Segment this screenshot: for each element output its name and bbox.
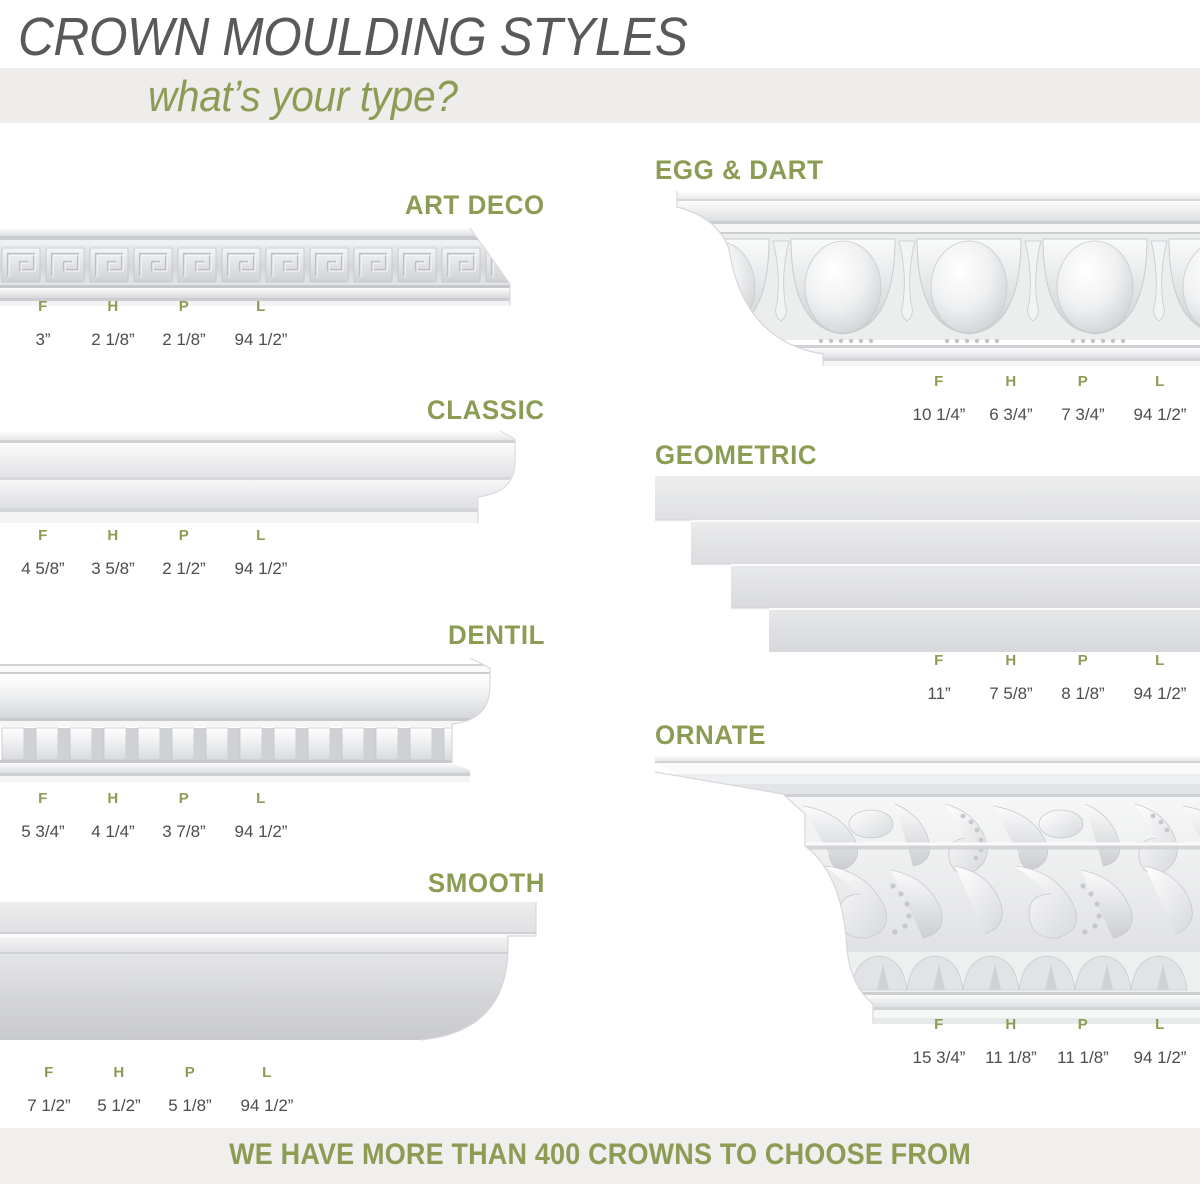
dimensions-art-deco: F 3” H 2 1/8” P 2 1/8” L 94 1/2”: [8, 298, 302, 349]
dim-key-l: L: [1155, 373, 1165, 390]
style-card-art-deco: ART DECO: [0, 190, 545, 360]
style-title-smooth: SMOOTH: [428, 868, 545, 899]
dim-value-f: 15 3/4”: [913, 1048, 966, 1067]
footer-tagline: WE HAVE MORE THAN 400 CROWNS TO CHOOSE F…: [60, 1138, 1140, 1172]
dim-key-f: F: [934, 652, 944, 669]
dim-value-f: 3”: [35, 330, 50, 349]
style-card-geometric: GEOMETRIC: [655, 440, 1200, 710]
dimensions-classic: F 4 5/8” H 3 5/8” P 2 1/2” L 94 1/2”: [8, 527, 302, 578]
dim-value-f: 7 1/2”: [27, 1096, 70, 1115]
dimensions-dentil: F 5 3/4” H 4 1/4” P 3 7/8” L 94 1/2”: [8, 790, 302, 841]
dim-key-l: L: [256, 790, 266, 807]
page-title: CROWN MOULDING STYLES: [18, 8, 687, 66]
moulding-image-geometric: [655, 476, 1200, 656]
dim-key-h: H: [1005, 373, 1016, 390]
style-title-egg-and-dart: EGG & DART: [655, 155, 823, 186]
dim-value-f: 11”: [927, 684, 950, 703]
dim-value-l: 94 1/2”: [241, 1096, 294, 1115]
dim-value-l: 94 1/2”: [1134, 405, 1187, 424]
dim-key-h: H: [113, 1064, 124, 1081]
dim-value-l: 94 1/2”: [235, 559, 288, 578]
dim-value-h: 6 3/4”: [989, 405, 1032, 424]
dim-key-l: L: [256, 298, 266, 315]
dim-value-l: 94 1/2”: [1134, 1048, 1187, 1067]
dimensions-egg-and-dart: F 10 1/4” H 6 3/4” P 7 3/4” L 94 1/2”: [903, 373, 1200, 424]
style-card-dentil: DENTIL: [0, 620, 545, 845]
dim-key-p: P: [179, 527, 190, 544]
dim-value-h: 3 5/8”: [91, 559, 134, 578]
moulding-image-classic: [0, 431, 545, 531]
dimensions-ornate: F 15 3/4” H 11 1/8” P 11 1/8” L 94 1/2”: [903, 1016, 1200, 1067]
dim-value-p: 3 7/8”: [162, 822, 205, 841]
style-card-egg-and-dart: EGG & DART: [655, 155, 1200, 425]
dimensions-geometric: F 11” H 7 5/8” P 8 1/8” L 94 1/2”: [903, 652, 1200, 703]
moulding-image-egg-and-dart: [655, 191, 1200, 381]
dim-value-h: 11 1/8”: [985, 1048, 1037, 1067]
infographic-page: CROWN MOULDING STYLES what’s your type? …: [0, 0, 1200, 1200]
dim-key-f: F: [44, 1064, 54, 1081]
dim-value-f: 10 1/4”: [913, 405, 966, 424]
dim-value-h: 7 5/8”: [989, 684, 1032, 703]
dim-value-l: 94 1/2”: [235, 330, 288, 349]
dim-key-f: F: [934, 1016, 944, 1033]
dim-value-p: 8 1/8”: [1061, 684, 1104, 703]
dim-key-f: F: [38, 527, 48, 544]
dim-key-p: P: [1078, 652, 1089, 669]
dim-value-f: 5 3/4”: [21, 822, 64, 841]
dim-value-p: 11 1/8”: [1057, 1048, 1109, 1067]
dim-key-h: H: [107, 790, 118, 807]
dim-value-h: 2 1/8”: [91, 330, 134, 349]
moulding-image-dentil: [0, 658, 545, 793]
dim-value-l: 94 1/2”: [1134, 684, 1187, 703]
style-card-classic: CLASSIC: [0, 395, 545, 590]
dim-value-h: 5 1/2”: [97, 1096, 140, 1115]
dim-key-f: F: [38, 298, 48, 315]
dim-key-f: F: [38, 790, 48, 807]
dim-key-p: P: [179, 790, 190, 807]
style-title-ornate: ORNATE: [655, 720, 766, 751]
dim-value-h: 4 1/4”: [91, 822, 134, 841]
dim-key-l: L: [256, 527, 266, 544]
dim-key-p: P: [1078, 373, 1089, 390]
dim-key-p: P: [1078, 1016, 1089, 1033]
dim-key-p: P: [185, 1064, 196, 1081]
dim-key-h: H: [1005, 652, 1016, 669]
dim-value-p: 7 3/4”: [1061, 405, 1104, 424]
dim-key-l: L: [1155, 652, 1165, 669]
style-title-art-deco: ART DECO: [405, 190, 545, 221]
dimensions-smooth: F 7 1/2” H 5 1/2” P 5 1/8” L 94 1/2”: [14, 1064, 308, 1115]
style-title-dentil: DENTIL: [448, 620, 545, 651]
dim-key-h: H: [1005, 1016, 1016, 1033]
moulding-image-smooth: [0, 902, 545, 1062]
dim-value-p: 2 1/2”: [162, 559, 205, 578]
dim-key-p: P: [179, 298, 190, 315]
style-card-smooth: SMOOTH: [0, 868, 545, 1118]
dim-key-l: L: [1155, 1016, 1165, 1033]
dim-value-f: 4 5/8”: [21, 559, 64, 578]
moulding-image-ornate: [655, 754, 1200, 1034]
style-title-classic: CLASSIC: [427, 395, 545, 426]
dim-value-l: 94 1/2”: [235, 822, 288, 841]
dim-key-l: L: [262, 1064, 272, 1081]
dim-value-p: 2 1/8”: [162, 330, 205, 349]
style-card-ornate: ORNATE: [655, 720, 1200, 1080]
dim-key-f: F: [934, 373, 944, 390]
dim-value-p: 5 1/8”: [168, 1096, 211, 1115]
dim-key-h: H: [107, 298, 118, 315]
style-title-geometric: GEOMETRIC: [655, 440, 817, 471]
dim-key-h: H: [107, 527, 118, 544]
page-subtitle: what’s your type?: [148, 74, 458, 120]
